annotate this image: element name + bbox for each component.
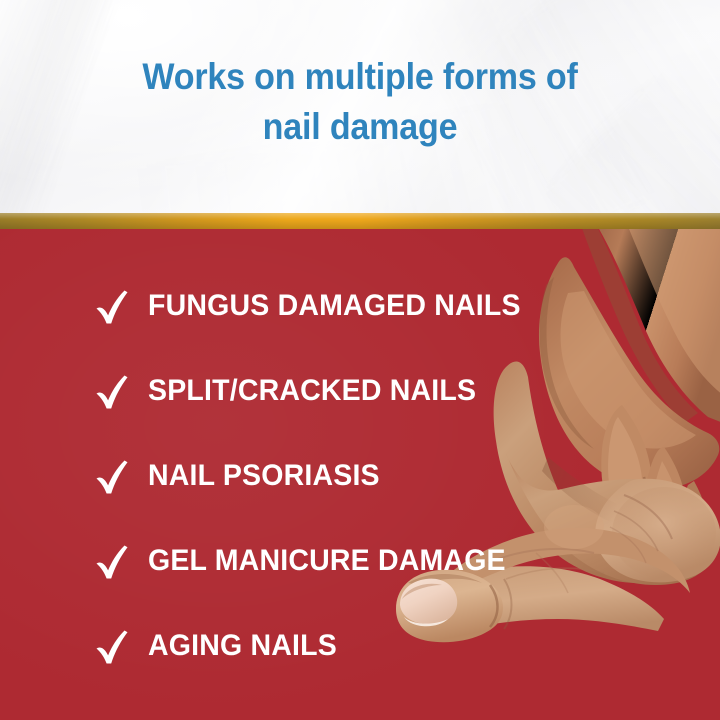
header-banner: Works on multiple forms of nail damage [0, 0, 720, 213]
benefits-list: FUNGUS DAMAGED NAILS SPLIT/CRACKED NAILS… [94, 263, 524, 688]
checkmark-icon [94, 286, 130, 326]
benefits-panel: FUNGUS DAMAGED NAILS SPLIT/CRACKED NAILS… [0, 229, 720, 720]
checkmark-icon [94, 371, 130, 411]
list-item-label: FUNGUS DAMAGED NAILS [148, 290, 521, 322]
gold-divider-band [0, 213, 720, 229]
list-item-label: SPLIT/CRACKED NAILS [148, 375, 476, 407]
list-item-label: GEL MANICURE DAMAGE [148, 545, 506, 577]
checkmark-icon [94, 541, 130, 581]
list-item[interactable]: NAIL PSORIASIS [94, 433, 524, 518]
list-item[interactable]: GEL MANICURE DAMAGE [94, 518, 524, 603]
list-item[interactable]: AGING NAILS [94, 603, 524, 688]
checkmark-icon [94, 626, 130, 666]
list-item[interactable]: SPLIT/CRACKED NAILS [94, 348, 524, 433]
page-title: Works on multiple forms of nail damage [29, 52, 691, 152]
infographic-page: Works on multiple forms of nail damage [0, 0, 720, 720]
page-title-line-1: Works on multiple forms of [29, 52, 691, 102]
list-item-label: NAIL PSORIASIS [148, 460, 380, 492]
checkmark-icon [94, 456, 130, 496]
page-title-line-2: nail damage [29, 102, 691, 152]
list-item[interactable]: FUNGUS DAMAGED NAILS [94, 263, 524, 348]
list-item-label: AGING NAILS [148, 630, 337, 662]
